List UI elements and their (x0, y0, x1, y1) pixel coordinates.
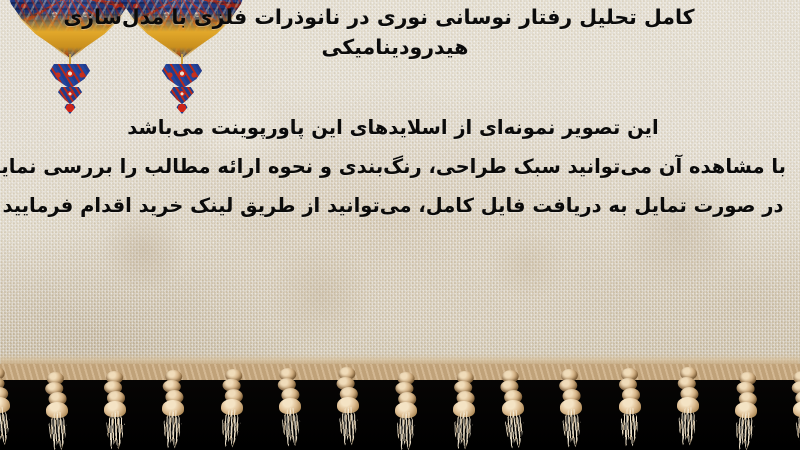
tassel-brush-highlight (450, 412, 476, 449)
fringe-tassel (789, 368, 800, 450)
tassel-brush-highlight (618, 410, 642, 446)
presentation-slide: کامل تحلیل رفتار نوسانی نوری در نانوذرات… (0, 0, 800, 450)
fringe-tassel (557, 367, 586, 450)
tassel-brush-highlight (45, 414, 70, 450)
tassel-brush-highlight (217, 410, 243, 448)
fringe-tassel (730, 369, 762, 450)
fringe-tassel (497, 367, 529, 450)
fringe-tassel (334, 365, 361, 447)
slide-title: کامل تحلیل رفتار نوسانی نوری در نانوذرات… (0, 2, 790, 62)
fringe-tassel (0, 364, 15, 448)
tassel-brush-highlight (278, 409, 304, 446)
tassel-brush-highlight (560, 411, 585, 448)
slide-body: این تصویر نمونه‌ای از اسلایدهای این پاور… (0, 108, 786, 225)
fringe-tassel (275, 365, 305, 448)
carpet-fringe-zone (0, 364, 800, 450)
tassel-brush-highlight (336, 409, 361, 445)
fringe-tassel-row (0, 368, 800, 450)
slide-body-line-3: در صورت تمایل به دریافت فایل کامل، می‌تو… (0, 186, 786, 225)
fringe-tassel (216, 366, 248, 450)
tassel-brush-highlight (502, 411, 528, 449)
slide-text-layer: کامل تحلیل رفتار نوسانی نوری در نانوذرات… (0, 0, 800, 378)
fringe-tassel (43, 370, 72, 450)
slide-body-line-2: با مشاهده آن می‌توانید سبک طراحی، رنگ‌بن… (0, 147, 786, 186)
tassel-brush-highlight (393, 414, 418, 450)
slide-title-line-1: کامل تحلیل رفتار نوسانی نوری در نانوذرات… (0, 2, 790, 32)
tassel-brush-highlight (731, 413, 757, 450)
tassel-brush-highlight (674, 409, 699, 446)
tassel-head (793, 400, 800, 417)
tassel-brush-highlight (103, 413, 127, 449)
slide-title-line-2: هیدرودینامیکی (0, 32, 790, 62)
fringe-tassel (392, 370, 419, 450)
fringe-tassel (159, 368, 188, 450)
tassel-brush-highlight (160, 412, 185, 449)
fringe-tassel (673, 365, 702, 448)
slide-body-line-1: این تصویر نمونه‌ای از اسلایدهای این پاور… (0, 108, 786, 147)
tassel-brush-highlight (0, 408, 14, 446)
fringe-tassel (617, 366, 643, 448)
fringe-tassel (102, 369, 128, 450)
fringe-tassel (449, 368, 479, 450)
